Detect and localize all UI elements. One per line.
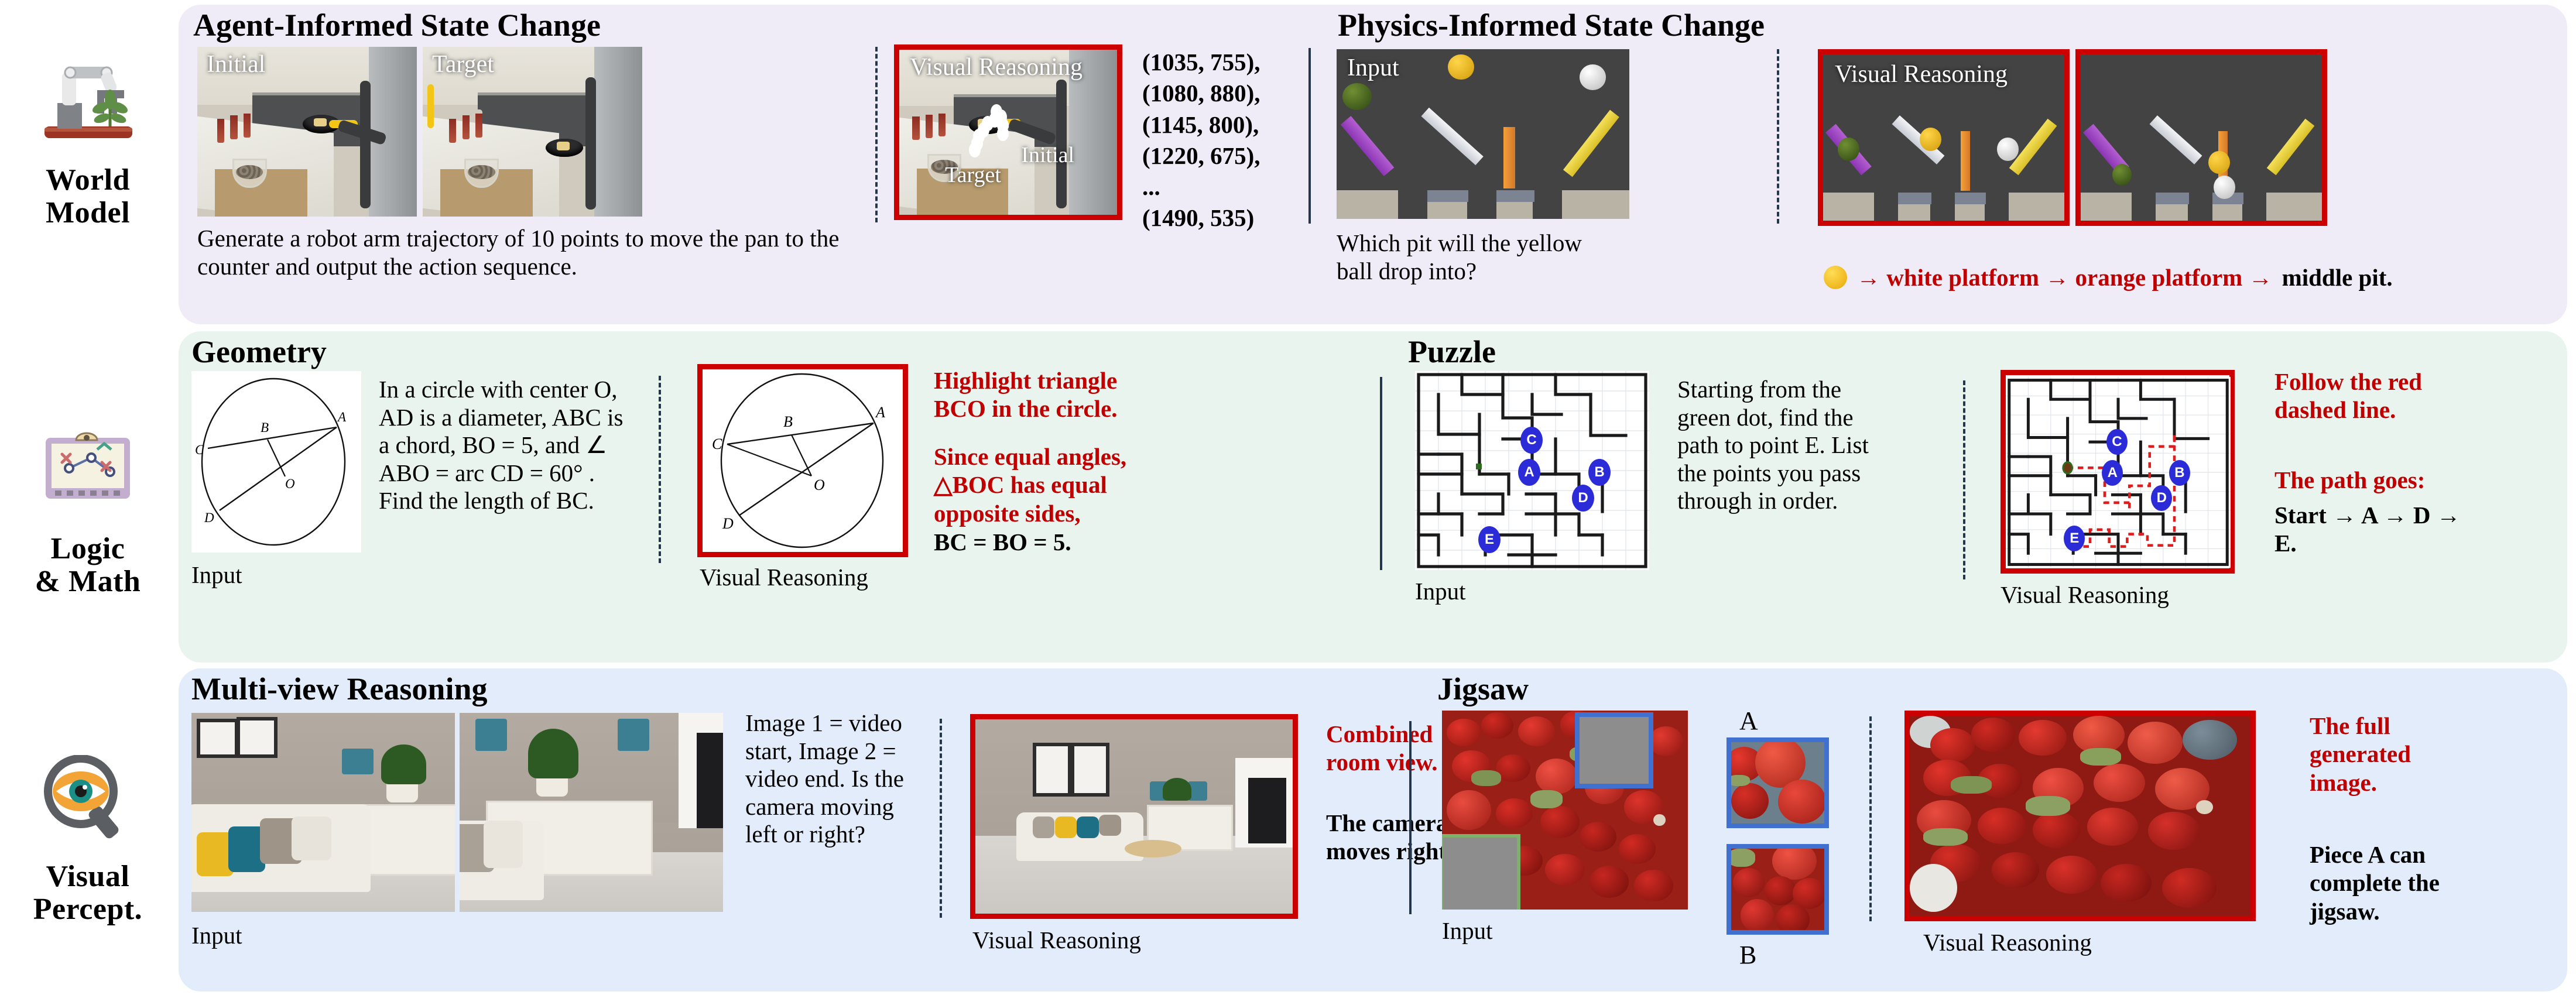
agent-question-text: Generate a robot arm trajectory of 10 po… — [197, 225, 853, 280]
puzzle-note-red-2: The path goes: — [2274, 466, 2468, 494]
category-label-line1: Visual — [0, 860, 176, 893]
physics-input-image: Input — [1337, 49, 1629, 219]
maze-node-c: C — [1520, 427, 1543, 454]
category-rail: World Model — [0, 0, 176, 995]
yellow-ball-icon — [1824, 266, 1847, 289]
jigsaw-piece-label-a: A — [1739, 706, 1758, 736]
divider-physics-left — [1308, 48, 1311, 224]
jigsaw-piece-b — [1727, 844, 1829, 935]
category-label-line1: Logic — [0, 533, 176, 565]
category-label-line2: Percept. — [0, 893, 176, 926]
multiview-input-caption: Input — [191, 921, 242, 949]
geometry-note-red-1: Highlight triangle BCO in the circle. — [934, 366, 1136, 423]
physics-visual-reasoning-image-1: Visual Reasoning — [1818, 49, 2070, 226]
clipboard-graph-icon — [0, 410, 176, 533]
agent-visual-reasoning-image: Visual Reasoning Initial Target — [894, 44, 1122, 220]
divider-jigsaw-right — [1869, 716, 1872, 921]
divider-puzzle-left — [1380, 377, 1382, 570]
multiview-vr-caption: Visual Reasoning — [972, 926, 1141, 954]
puzzle-note-red-1: Follow the red dashed line. — [2274, 368, 2468, 424]
overlay-vr-target: Target — [945, 162, 1001, 188]
divider-agent — [875, 47, 878, 222]
maze-vr-node-c: C — [2106, 429, 2128, 455]
svg-text:D: D — [722, 515, 734, 532]
maze-vr-node-b: B — [2169, 460, 2190, 486]
puzzle-note-black: Start → A → D → E. — [2274, 501, 2468, 558]
row-logic-math: Geometry A B C D O Input In a circle wit… — [179, 331, 2567, 663]
section-title-physics-informed: Physics-Informed State Change — [1338, 7, 1765, 43]
svg-text:C: C — [195, 442, 204, 457]
category-world-model: World Model — [0, 41, 176, 229]
overlay-visual-reasoning: Visual Reasoning — [910, 53, 1083, 81]
svg-text:A: A — [875, 404, 885, 421]
figure-root: World Model — [0, 0, 2576, 995]
section-title-multiview: Multi-view Reasoning — [191, 671, 488, 707]
puzzle-vr-caption: Visual Reasoning — [2000, 581, 2169, 609]
physics-visual-reasoning-image-2 — [2075, 49, 2327, 226]
puzzle-input-maze: C A B D E — [1415, 371, 1649, 570]
physics-answer-line: → white platform → orange platform → mid… — [1824, 263, 2393, 291]
geometry-visual-reasoning-figure: A B C D O — [697, 364, 908, 557]
robot-arm-icon — [0, 41, 176, 164]
jigsaw-missing-patch-bottom — [1442, 834, 1520, 910]
row-visual-perception: Multi-view Reasoning — [179, 668, 2567, 991]
maze-node-b: B — [1588, 459, 1611, 486]
svg-text:C: C — [712, 435, 722, 452]
divider-physics-right — [1777, 49, 1779, 224]
divider-jigsaw-left — [1409, 721, 1412, 914]
category-label-logic-math: Logic & Math — [0, 533, 176, 598]
physics-answer-red: → white platform → orange platform → — [1856, 263, 2273, 291]
svg-text:A: A — [337, 410, 347, 424]
jigsaw-vr-caption: Visual Reasoning — [1923, 928, 2092, 956]
section-title-jigsaw: Jigsaw — [1437, 671, 1529, 707]
svg-text:B: B — [261, 420, 269, 435]
agent-coordinate-list: (1035, 755), (1080, 880), (1145, 800), (… — [1142, 47, 1260, 234]
geometry-input-caption: Input — [191, 561, 242, 589]
maze-node-e: E — [1478, 526, 1501, 553]
physics-question-text: Which pit will the yellow ball drop into… — [1337, 229, 1582, 285]
svg-text:D: D — [204, 510, 214, 525]
maze-node-d: D — [1572, 485, 1594, 512]
section-title-puzzle: Puzzle — [1408, 334, 1496, 370]
category-visual-percept: Visual Percept. — [0, 737, 176, 926]
section-title-agent-informed: Agent-Informed State Change — [193, 7, 601, 43]
category-label-line2: Model — [0, 197, 176, 229]
puzzle-input-caption: Input — [1415, 577, 1466, 605]
divider-puzzle-right — [1963, 380, 1965, 579]
category-logic-math: Logic & Math — [0, 410, 176, 598]
overlay-vr-initial: Initial — [1021, 142, 1074, 168]
puzzle-question-text: Starting from the green dot, find the pa… — [1677, 376, 1876, 515]
overlay-physics-vr: Visual Reasoning — [1835, 60, 2008, 88]
puzzle-visual-reasoning-maze: C A B D E — [2000, 370, 2235, 574]
eye-magnifier-icon — [0, 737, 176, 860]
multiview-input-image-2 — [460, 713, 723, 912]
svg-text:B: B — [783, 413, 793, 430]
jigsaw-input-caption: Input — [1442, 917, 1493, 945]
physics-answer-black: middle pit. — [2282, 263, 2393, 291]
category-label-visual-percept: Visual Percept. — [0, 860, 176, 926]
overlay-physics-input: Input — [1347, 54, 1399, 82]
row-world-model: Agent-Informed State Change Initial — [179, 5, 2567, 324]
svg-text:O: O — [285, 476, 295, 491]
divider-multiview — [940, 719, 942, 918]
category-label-line2: & Math — [0, 565, 176, 598]
overlay-initial: Initial — [207, 50, 265, 78]
section-title-geometry: Geometry — [191, 334, 327, 370]
jigsaw-piece-a — [1727, 737, 1829, 828]
geometry-input-figure: A B C D O — [191, 371, 361, 553]
agent-target-image: Target — [423, 47, 642, 217]
jigsaw-note-red: The full generated image. — [2310, 712, 2462, 797]
jigsaw-piece-label-b: B — [1739, 940, 1756, 970]
category-label-world-model: World Model — [0, 164, 176, 229]
maze-node-a: A — [1518, 459, 1540, 486]
geometry-note-black: BC = BO = 5. — [934, 528, 1136, 556]
svg-text:O: O — [814, 476, 825, 493]
multiview-input-image-1 — [191, 713, 455, 912]
jigsaw-note-black: Piece A can complete the jigsaw. — [2310, 840, 2462, 925]
geometry-vr-caption: Visual Reasoning — [700, 563, 868, 591]
geometry-note-red-2: Since equal angles, △BOC has equal oppos… — [934, 442, 1136, 527]
multiview-visual-reasoning-image — [970, 714, 1298, 919]
jigsaw-missing-patch-top — [1575, 712, 1653, 788]
multiview-question-text: Image 1 = video start, Image 2 = video e… — [745, 709, 921, 849]
category-label-line1: World — [0, 164, 176, 197]
agent-initial-image: Initial — [197, 47, 417, 217]
divider-geometry — [659, 376, 661, 563]
geometry-question-text: In a circle with center O, AD is a diame… — [379, 376, 625, 515]
jigsaw-input-image — [1442, 711, 1688, 910]
overlay-target: Target — [432, 50, 494, 78]
jigsaw-visual-reasoning-image — [1904, 711, 2256, 921]
